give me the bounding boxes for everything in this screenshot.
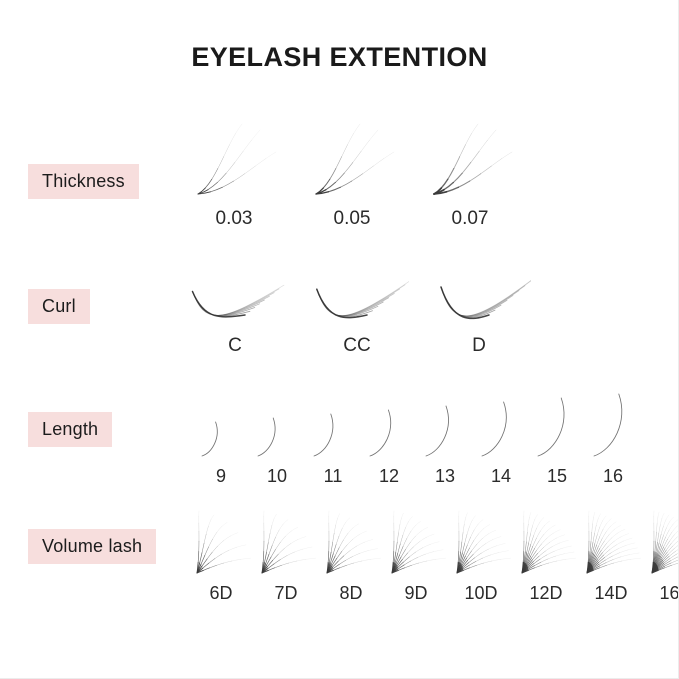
volume-item-label: 12D [529, 583, 562, 604]
volume-item-label: 16D [659, 583, 679, 604]
curl-item: CC [305, 275, 409, 357]
length-item: 10 [252, 392, 302, 487]
volume-item: 10D [450, 495, 512, 604]
length-item: 11 [308, 392, 358, 487]
lash-art [252, 392, 302, 464]
length-item-label: 12 [379, 466, 399, 487]
volume-items: 6D7D8D9D10D12D14D16D [190, 495, 679, 604]
lash-art [645, 495, 679, 581]
thickness-item-label: 0.07 [452, 208, 489, 230]
thickness-item: 0.07 [422, 118, 518, 230]
thickness-item: 0.05 [304, 118, 400, 230]
curl-item: C [183, 275, 287, 357]
row-label-length: Length [28, 412, 112, 447]
length-item-label: 11 [324, 466, 343, 487]
volume-item: 12D [515, 495, 577, 604]
thickness-items: 0.030.050.07 [186, 118, 518, 230]
lash-art [255, 495, 317, 581]
curl-item-label: C [228, 335, 242, 357]
lash-art [476, 392, 526, 464]
thickness-item-label: 0.03 [216, 208, 253, 230]
lash-art [532, 392, 582, 464]
volume-item: 9D [385, 495, 447, 604]
row-label-thickness: Thickness [28, 164, 139, 199]
lash-art [190, 495, 252, 581]
eyelash-extension-poster: EYELASH EXTENTION Thickness 0.030.050.07… [0, 0, 679, 679]
volume-item-label: 14D [594, 583, 627, 604]
length-item-label: 16 [603, 466, 623, 487]
volume-item-label: 7D [274, 583, 297, 604]
curl-item: D [427, 275, 531, 357]
length-item: 12 [364, 392, 414, 487]
lash-art [515, 495, 577, 581]
length-item: 16 [588, 392, 638, 487]
curl-item-label: D [472, 335, 486, 357]
length-item: 14 [476, 392, 526, 487]
volume-item: 8D [320, 495, 382, 604]
volume-item-label: 9D [404, 583, 427, 604]
row-length: Length 910111213141516 [0, 390, 679, 490]
length-item: 15 [532, 392, 582, 487]
row-thickness: Thickness 0.030.050.07 [0, 110, 679, 240]
length-item: 9 [196, 392, 246, 487]
lash-art [580, 495, 642, 581]
lash-art [304, 118, 400, 204]
thickness-item: 0.03 [186, 118, 282, 230]
lash-art [427, 275, 531, 331]
lash-art [320, 495, 382, 581]
lash-art [308, 392, 358, 464]
length-item-label: 10 [267, 466, 287, 487]
row-label-curl: Curl [28, 289, 90, 324]
length-item: 13 [420, 392, 470, 487]
length-items: 910111213141516 [196, 392, 638, 487]
curl-items: CCCD [183, 275, 531, 357]
lash-art [385, 495, 447, 581]
length-item-label: 9 [216, 466, 226, 487]
lash-art [588, 392, 638, 464]
row-label-volume: Volume lash [28, 529, 156, 564]
lash-art [422, 118, 518, 204]
volume-item-label: 6D [209, 583, 232, 604]
volume-item-label: 8D [339, 583, 362, 604]
curl-item-label: CC [343, 335, 370, 357]
lash-art [364, 392, 414, 464]
volume-item-label: 10D [464, 583, 497, 604]
length-item-label: 13 [435, 466, 455, 487]
row-curl: Curl CCCD [0, 265, 679, 365]
row-volume: Volume lash 6D7D8D9D10D12D14D16D [0, 495, 679, 615]
thickness-item-label: 0.05 [334, 208, 371, 230]
volume-item: 6D [190, 495, 252, 604]
lash-art [196, 392, 246, 464]
lash-art [305, 275, 409, 331]
lash-art [183, 275, 287, 331]
length-item-label: 14 [491, 466, 511, 487]
lash-art [450, 495, 512, 581]
volume-item: 16D [645, 495, 679, 604]
volume-item: 14D [580, 495, 642, 604]
volume-item: 7D [255, 495, 317, 604]
length-item-label: 15 [547, 466, 567, 487]
lash-art [420, 392, 470, 464]
page-title: EYELASH EXTENTION [0, 42, 679, 73]
lash-art [186, 118, 282, 204]
